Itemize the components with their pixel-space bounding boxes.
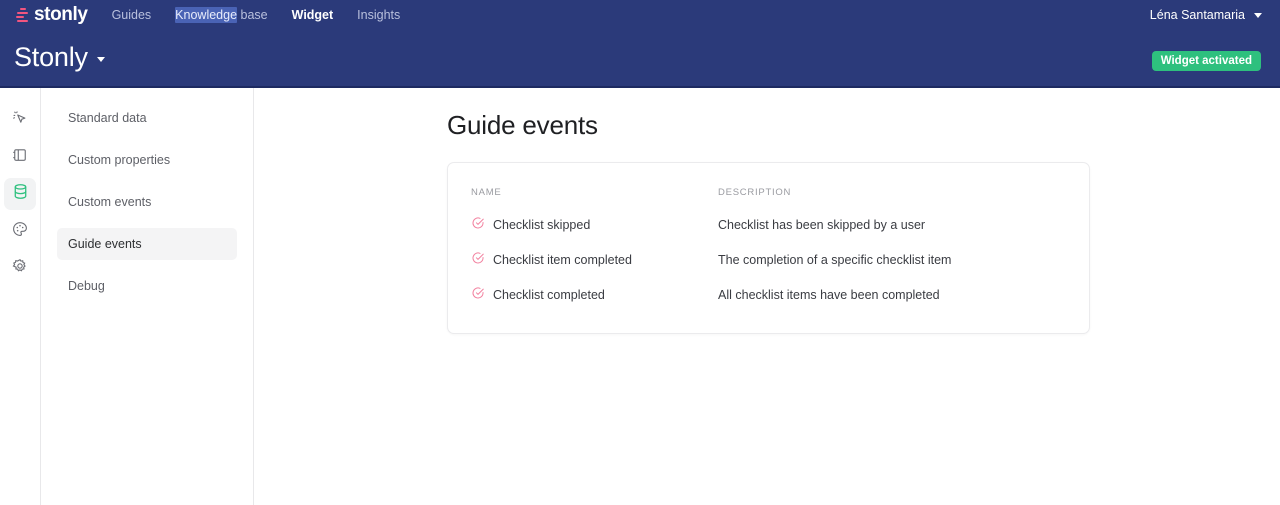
main-content: Guide events NAME DESCRIPTION (254, 88, 1280, 505)
event-description: Checklist has been skipped by a user (718, 198, 1089, 233)
rail-item-database[interactable] (4, 178, 36, 210)
chevron-down-icon (1254, 13, 1262, 18)
user-menu[interactable]: Léna Santamaria (1150, 0, 1262, 30)
app-header: stonly Guides Knowledge base Widget Insi… (0, 0, 1280, 88)
caret-down-icon (97, 57, 105, 62)
gear-icon (11, 257, 29, 280)
table-body: Checklist skipped Checklist has been ski… (448, 198, 1089, 333)
event-name: Checklist skipped (493, 218, 590, 232)
stonly-logo[interactable]: stonly (16, 4, 88, 26)
check-circle-icon (471, 286, 485, 303)
cursor-sparkle-icon (11, 109, 29, 132)
check-circle-icon (471, 251, 485, 268)
column-header-name: NAME (448, 163, 718, 198)
table-row[interactable]: Checklist completed All checklist items … (448, 268, 1089, 333)
status-badge[interactable]: Widget activated (1152, 51, 1261, 71)
columns-layout-icon (11, 146, 29, 169)
nav-link-widget[interactable]: Widget (292, 8, 334, 22)
guide-events-card: NAME DESCRIPTION (447, 162, 1090, 334)
stonly-logo-icon (16, 8, 29, 23)
palette-icon (11, 220, 29, 243)
column-header-description: DESCRIPTION (718, 163, 1089, 198)
sidebar-item-custom-properties[interactable]: Custom properties (57, 144, 237, 176)
table-row[interactable]: Checklist item completed The completion … (448, 233, 1089, 268)
top-nav-row: stonly Guides Knowledge base Widget Insi… (0, 0, 1280, 30)
section-nav: Standard data Custom properties Custom e… (41, 88, 254, 505)
rail-item-cursor[interactable] (4, 104, 36, 136)
guide-events-table: NAME DESCRIPTION (448, 163, 1089, 333)
rail-item-layout[interactable] (4, 141, 36, 173)
page-title: Guide events (447, 110, 598, 141)
event-description: All checklist items have been completed (718, 268, 1089, 333)
event-description: The completion of a specific checklist i… (718, 233, 1089, 268)
nav-link-insights[interactable]: Insights (357, 8, 400, 22)
database-icon (11, 182, 30, 206)
check-circle-icon (471, 216, 485, 233)
primary-nav: Guides Knowledge base Widget Insights (112, 8, 401, 22)
logo-text: stonly (34, 4, 88, 26)
user-name: Léna Santamaria (1150, 8, 1245, 22)
sidebar-item-debug[interactable]: Debug (57, 270, 237, 302)
sidebar-item-standard-data[interactable]: Standard data (57, 102, 237, 134)
nav-link-knowledge-base-selection: Knowledge (175, 7, 237, 23)
nav-link-guides[interactable]: Guides (112, 8, 152, 22)
rail-item-settings[interactable] (4, 252, 36, 284)
event-name: Checklist item completed (493, 253, 632, 267)
event-name: Checklist completed (493, 288, 605, 302)
nav-link-knowledge-base[interactable]: Knowledge base (175, 8, 267, 22)
rail-item-palette[interactable] (4, 215, 36, 247)
workspace-name: Stonly (14, 42, 88, 73)
icon-rail (0, 88, 41, 505)
sidebar-item-custom-events[interactable]: Custom events (57, 186, 237, 218)
sidebar-item-guide-events[interactable]: Guide events (57, 228, 237, 260)
workspace-selector[interactable]: Stonly (14, 42, 105, 73)
table-header: NAME DESCRIPTION (448, 163, 1089, 198)
table-row[interactable]: Checklist skipped Checklist has been ski… (448, 198, 1089, 233)
